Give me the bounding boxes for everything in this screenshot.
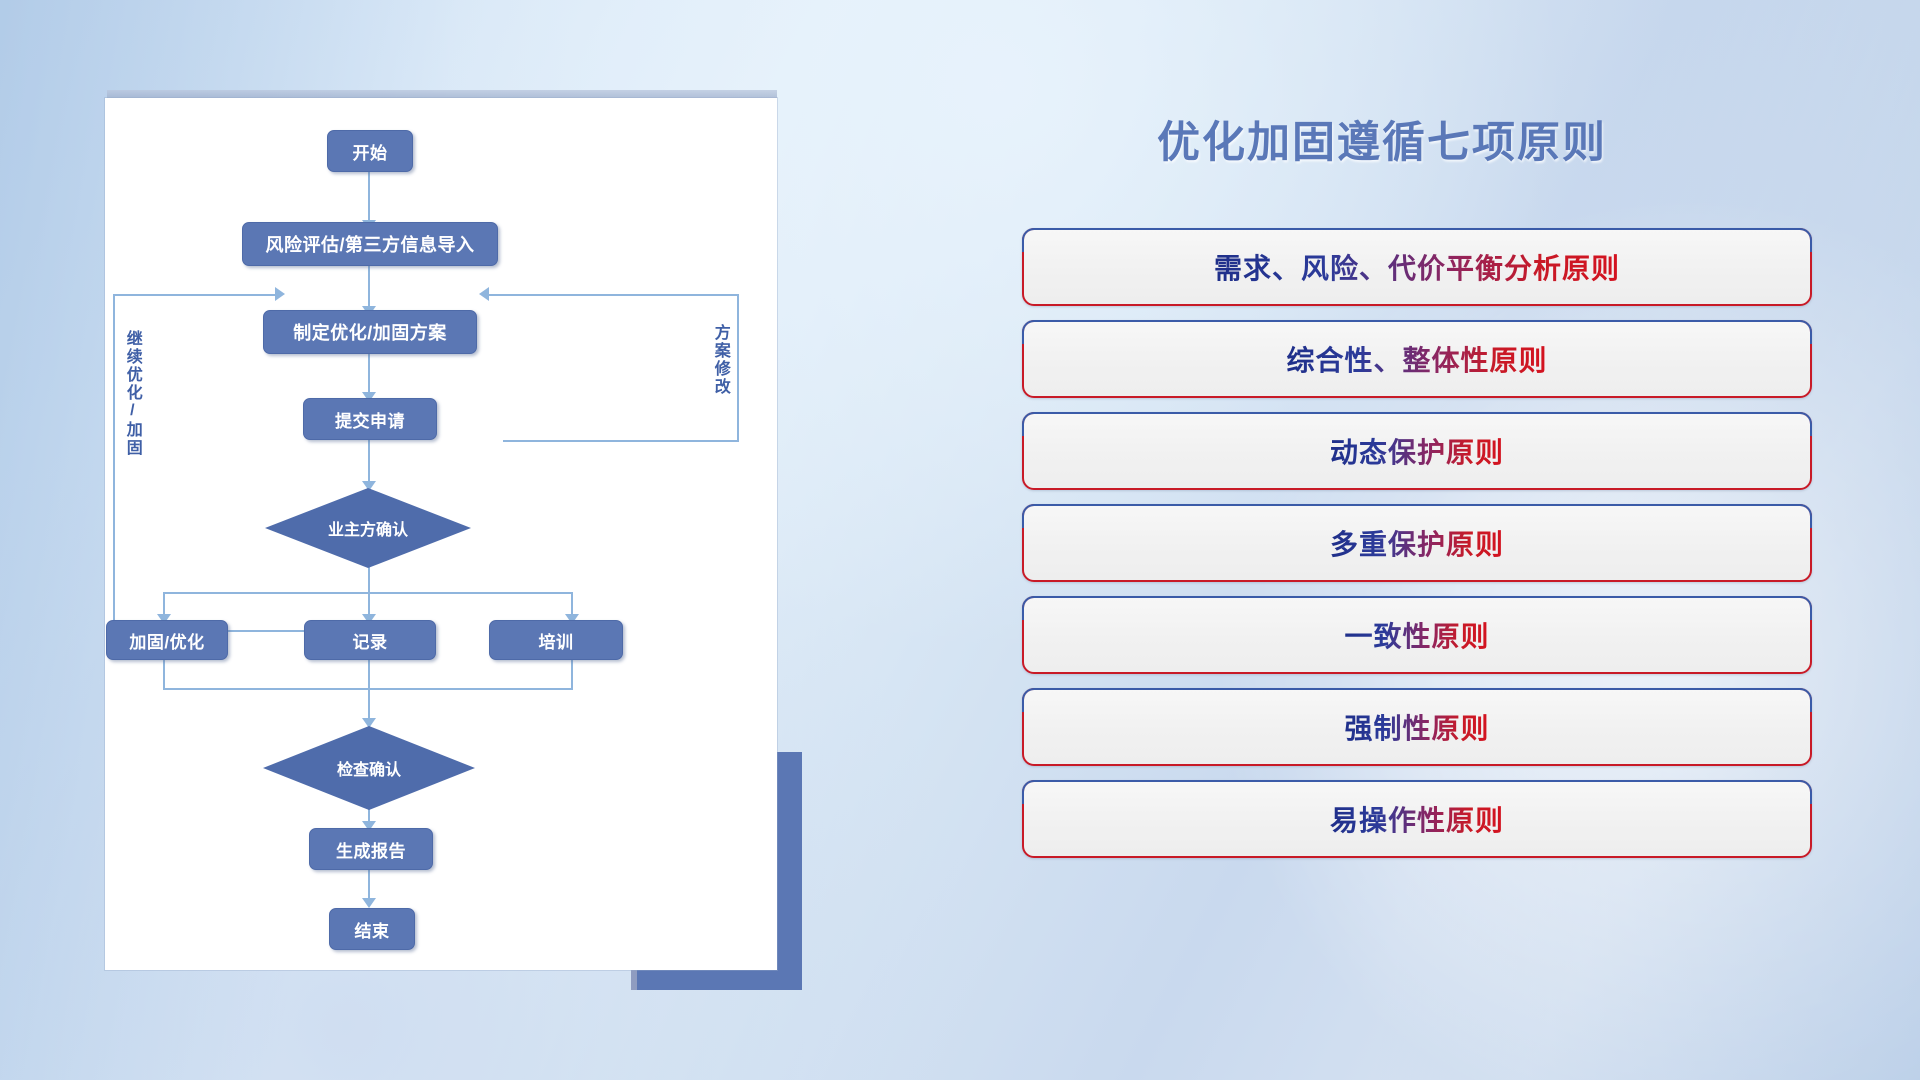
node-reinforce-optimize[interactable]: 加固/优化 [106, 620, 228, 660]
node-owner-confirm-label: 业主方确认 [265, 488, 471, 568]
node-make-plan[interactable]: 制定优化/加固方案 [263, 310, 477, 354]
flowchart-card: 继续优化/加固 方案修改 开始 风险评估/第三方信息导入 制定优化/加固方案 提… [105, 98, 777, 970]
list-item[interactable]: 动态保护原则 [1022, 412, 1812, 490]
list-item[interactable]: 强制性原则 [1022, 688, 1812, 766]
page-title: 优化加固遵循七项原则 [1022, 108, 1742, 170]
principle-label: 多重保护原则 [1330, 523, 1504, 563]
list-item[interactable]: 综合性、整体性原则 [1022, 320, 1812, 398]
arrowhead-right-loop [479, 287, 489, 301]
connector-record-check [368, 654, 370, 726]
node-start[interactable]: 开始 [327, 130, 413, 172]
list-item[interactable]: 需求、风险、代价平衡分析原则 [1022, 228, 1812, 306]
connector-start-risk [368, 168, 370, 226]
connector-left-loop-top [113, 294, 279, 296]
node-check-confirm[interactable]: 检查确认 [263, 726, 475, 810]
connector-owner-down [368, 566, 370, 592]
principle-label: 需求、风险、代价平衡分析原则 [1214, 247, 1620, 287]
node-training[interactable]: 培训 [489, 620, 623, 660]
principle-label: 强制性原则 [1344, 707, 1489, 747]
connector-right-loop-vertical [737, 294, 739, 442]
connector-right-loop-bottom [503, 440, 739, 442]
list-item[interactable]: 多重保护原则 [1022, 504, 1812, 582]
node-check-confirm-label: 检查确认 [263, 726, 475, 810]
arrowhead-left-loop [275, 287, 285, 301]
node-risk-assessment[interactable]: 风险评估/第三方信息导入 [242, 222, 498, 266]
connector-right-loop-top [487, 294, 739, 296]
node-submit-application[interactable]: 提交申请 [303, 398, 437, 440]
edge-label-left-loop: 继续优化/加固 [123, 330, 140, 510]
node-end[interactable]: 结束 [329, 908, 415, 950]
principle-label: 综合性、整体性原则 [1286, 339, 1547, 379]
node-generate-report[interactable]: 生成报告 [309, 828, 433, 870]
node-record[interactable]: 记录 [304, 620, 436, 660]
arrowhead-report-end [362, 898, 376, 908]
card-top-edge [107, 90, 777, 98]
edge-label-right-loop: 方案修改 [711, 324, 728, 454]
principle-label: 易操作性原则 [1330, 799, 1504, 839]
principles-list: 需求、风险、代价平衡分析原则 综合性、整体性原则 动态保护原则 多重保护原则 一… [1022, 228, 1812, 872]
principle-label: 一致性原则 [1344, 615, 1489, 655]
connector-left-loop-vertical [113, 294, 115, 632]
node-owner-confirm[interactable]: 业主方确认 [265, 488, 471, 568]
principle-label: 动态保护原则 [1330, 431, 1504, 471]
list-item[interactable]: 一致性原则 [1022, 596, 1812, 674]
list-item[interactable]: 易操作性原则 [1022, 780, 1812, 858]
